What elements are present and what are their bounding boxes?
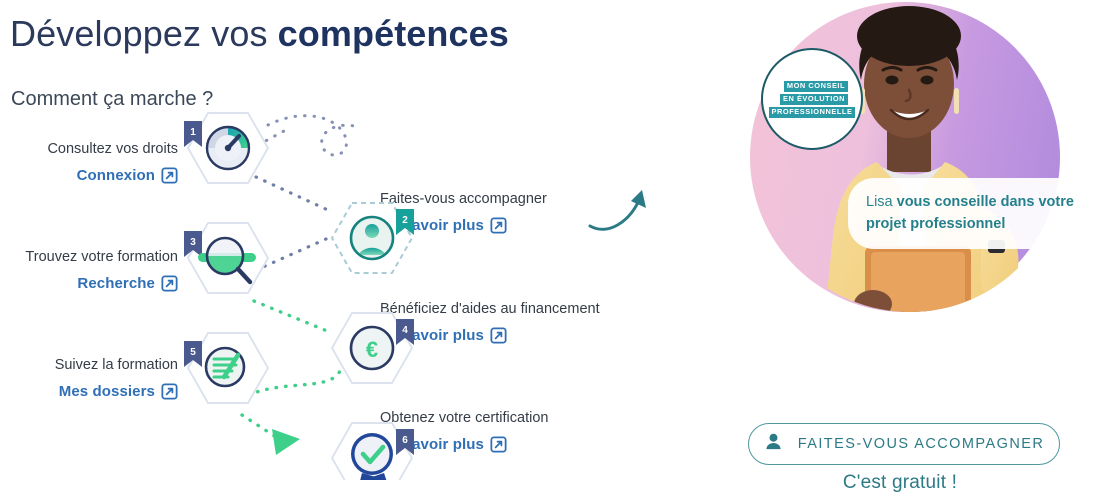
page-title-bold: compétences	[278, 13, 509, 54]
speech-emphasis: vous conseille dans votre projet profess…	[866, 194, 1074, 232]
step-hexagon-6: 6	[332, 423, 414, 480]
speech-bubble: Lisa vous conseille dans votre projet pr…	[848, 178, 1100, 249]
step-number-6: 6	[402, 435, 408, 446]
logo-line-3: PROFESSIONNELLE	[769, 107, 856, 118]
steps-flow-diagram: 1 2	[180, 105, 600, 480]
step-title-1: Consultez vos droits	[0, 140, 178, 159]
step-hexagon-1: 1	[184, 113, 268, 183]
person-icon	[764, 432, 783, 456]
logo-line-2: EN ÉVOLUTION	[780, 94, 848, 105]
step-title-5: Suivez la formation	[0, 356, 178, 375]
step-text-3: Trouvez votre formation Recherche	[0, 248, 178, 292]
step-link-row-3[interactable]: Recherche	[0, 275, 178, 292]
page-title: Développez vos compétences	[10, 12, 509, 56]
step-hexagon-4: 4 €	[332, 313, 414, 383]
connector-5-to-6	[242, 415, 300, 455]
free-text: C'est gratuit !	[700, 472, 1100, 494]
connector-3-to-4	[254, 301, 332, 333]
step-number-3: 3	[190, 237, 196, 248]
external-link-icon[interactable]	[161, 383, 178, 400]
step-number-1: 1	[190, 127, 196, 138]
speech-lead: Lisa	[866, 194, 897, 210]
step-title-3: Trouvez votre formation	[0, 248, 178, 267]
step-number-4: 4	[402, 325, 408, 336]
step-hexagon-5: 5	[184, 333, 268, 403]
person-circle-icon	[351, 217, 393, 259]
step-number-2: 2	[402, 215, 408, 226]
external-link-icon[interactable]	[161, 167, 178, 184]
promo-banner: Développez vos compétences Comment ça ma…	[0, 0, 1100, 504]
page-title-light: Développez vos	[10, 13, 278, 54]
mcep-logo-badge: MON CONSEIL EN ÉVOLUTION PROFESSIONNELLE	[761, 48, 863, 150]
svg-text:€: €	[366, 337, 378, 362]
step-hexagon-2: 2	[332, 203, 414, 273]
curved-arrow-icon	[586, 182, 656, 237]
step-text-1: Consultez vos droits Connexion	[0, 140, 178, 184]
advisor-panel: MON CONSEIL EN ÉVOLUTION PROFESSIONNELLE…	[700, 0, 1100, 504]
speedometer-icon	[207, 127, 249, 169]
step-link-row-1[interactable]: Connexion	[0, 167, 178, 184]
connector-decorative-loop	[268, 116, 358, 155]
cta-label: FAITES-VOUS ACCOMPAGNER	[798, 436, 1045, 452]
step-link-1[interactable]: Connexion	[77, 167, 155, 184]
step-link-3[interactable]: Recherche	[77, 275, 155, 292]
external-link-icon[interactable]	[161, 275, 178, 292]
step-link-5[interactable]: Mes dossiers	[59, 383, 155, 400]
step-number-5: 5	[190, 347, 196, 358]
logo-line-1: MON CONSEIL	[784, 81, 848, 92]
euro-circle-icon: €	[351, 327, 393, 369]
arrow-triangle-icon	[272, 429, 300, 455]
step-link-row-5[interactable]: Mes dossiers	[0, 383, 178, 400]
step-text-5: Suivez la formation Mes dossiers	[0, 356, 178, 400]
connector-1-to-2	[256, 177, 330, 211]
cta-accompagner-button[interactable]: FAITES-VOUS ACCOMPAGNER	[748, 423, 1060, 465]
step-hexagon-3: 3	[184, 223, 268, 293]
